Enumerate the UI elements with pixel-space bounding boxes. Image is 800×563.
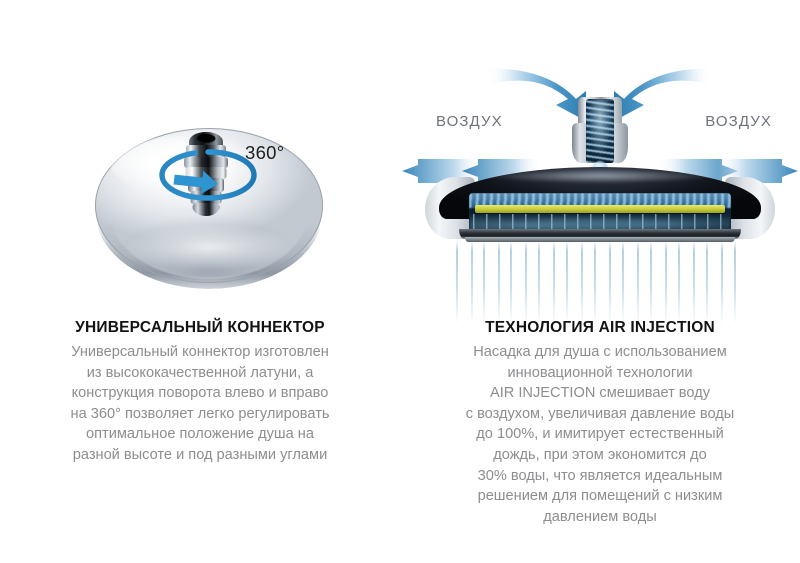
right-caption-line-4: до 100%, и имитирует естественный bbox=[428, 424, 772, 445]
curved-air-arrow-right-in bbox=[614, 69, 712, 121]
left-caption-line-3: на 360° позволяет легко регулировать bbox=[28, 404, 372, 425]
water-stream bbox=[609, 241, 611, 325]
right-caption-line-3: с воздухом, увеличивая давление воды bbox=[428, 404, 772, 425]
left-figure: 360° bbox=[0, 110, 400, 305]
left-caption-line-2: конструкция поворота влево и вправо bbox=[28, 383, 372, 404]
water-stream bbox=[665, 241, 667, 325]
right-caption: ТЕХНОЛОГИЯ AIR INJECTION Насадка для душ… bbox=[400, 318, 800, 527]
water-stream bbox=[581, 241, 583, 325]
left-caption-title: УНИВЕРСАЛЬНЫЙ КОННЕКТОР bbox=[0, 318, 400, 338]
water-stream bbox=[471, 241, 473, 325]
water-nozzle-cutaway bbox=[572, 97, 628, 171]
right-column: ВОЗДУХ ВОЗДУХ bbox=[400, 0, 800, 563]
left-column: 360° УНИВЕРСАЛЬНЫЙ КОННЕКТОР Универсальн… bbox=[0, 0, 400, 563]
left-caption: УНИВЕРСАЛЬНЫЙ КОННЕКТОР Универсальный ко… bbox=[0, 318, 400, 466]
water-stream bbox=[498, 241, 500, 325]
right-caption-line-2: AIR INJECTION смешивает воду bbox=[428, 383, 772, 404]
water-stream bbox=[566, 241, 568, 325]
water-stream bbox=[483, 241, 485, 325]
water-stream bbox=[456, 241, 458, 325]
right-caption-line-7: решением для помещений с низким bbox=[428, 486, 772, 507]
rotation-degree-label: 360° bbox=[245, 142, 284, 164]
water-stream bbox=[650, 241, 652, 325]
water-stream bbox=[721, 241, 723, 325]
water-stream bbox=[594, 241, 596, 325]
water-stream bbox=[553, 241, 555, 325]
water-stream bbox=[525, 241, 527, 325]
shower-head-cutaway bbox=[425, 167, 775, 242]
water-stream bbox=[622, 241, 624, 325]
nozzle-water-core bbox=[586, 99, 614, 163]
page-root: 360° УНИВЕРСАЛЬНЫЙ КОННЕКТОР Универсальн… bbox=[0, 0, 800, 563]
falling-water-streams bbox=[452, 241, 748, 325]
water-stream bbox=[706, 241, 708, 325]
right-caption-line-8: давлением воды bbox=[428, 507, 772, 528]
disc-highlight-bottom bbox=[125, 224, 293, 270]
water-stream bbox=[693, 241, 695, 325]
right-caption-line-1: инновационной технологии bbox=[428, 363, 772, 384]
left-caption-line-0: Универсальный коннектор изготовлен bbox=[28, 342, 372, 363]
right-caption-line-0: Насадка для душа с использованием bbox=[428, 342, 772, 363]
water-stream bbox=[538, 241, 540, 325]
shower-disc-group: 360° bbox=[95, 128, 323, 290]
water-stream bbox=[678, 241, 680, 325]
left-caption-line-4: оптимальное положение душа на bbox=[28, 424, 372, 445]
head-dome-highlight bbox=[485, 169, 715, 183]
water-stream bbox=[510, 241, 512, 325]
water-stream bbox=[734, 241, 736, 325]
right-caption-body: Насадка для душа с использованием иннова… bbox=[400, 342, 800, 527]
left-caption-body: Универсальный коннектор изготовлен из вы… bbox=[0, 342, 400, 466]
left-caption-line-5: разной высоте и под разными углами bbox=[28, 445, 372, 466]
water-stream bbox=[637, 241, 639, 325]
left-caption-line-1: из высококачественной латуни, а bbox=[28, 363, 372, 384]
right-caption-line-6: 30% воды, что является идеальным bbox=[428, 466, 772, 487]
right-caption-line-5: дождь, при этом экономится до bbox=[428, 445, 772, 466]
right-figure: ВОЗДУХ ВОЗДУХ bbox=[400, 45, 800, 305]
right-caption-title: ТЕХНОЛОГИЯ AIR INJECTION bbox=[400, 318, 800, 338]
nozzle-water-swirl bbox=[586, 99, 614, 163]
